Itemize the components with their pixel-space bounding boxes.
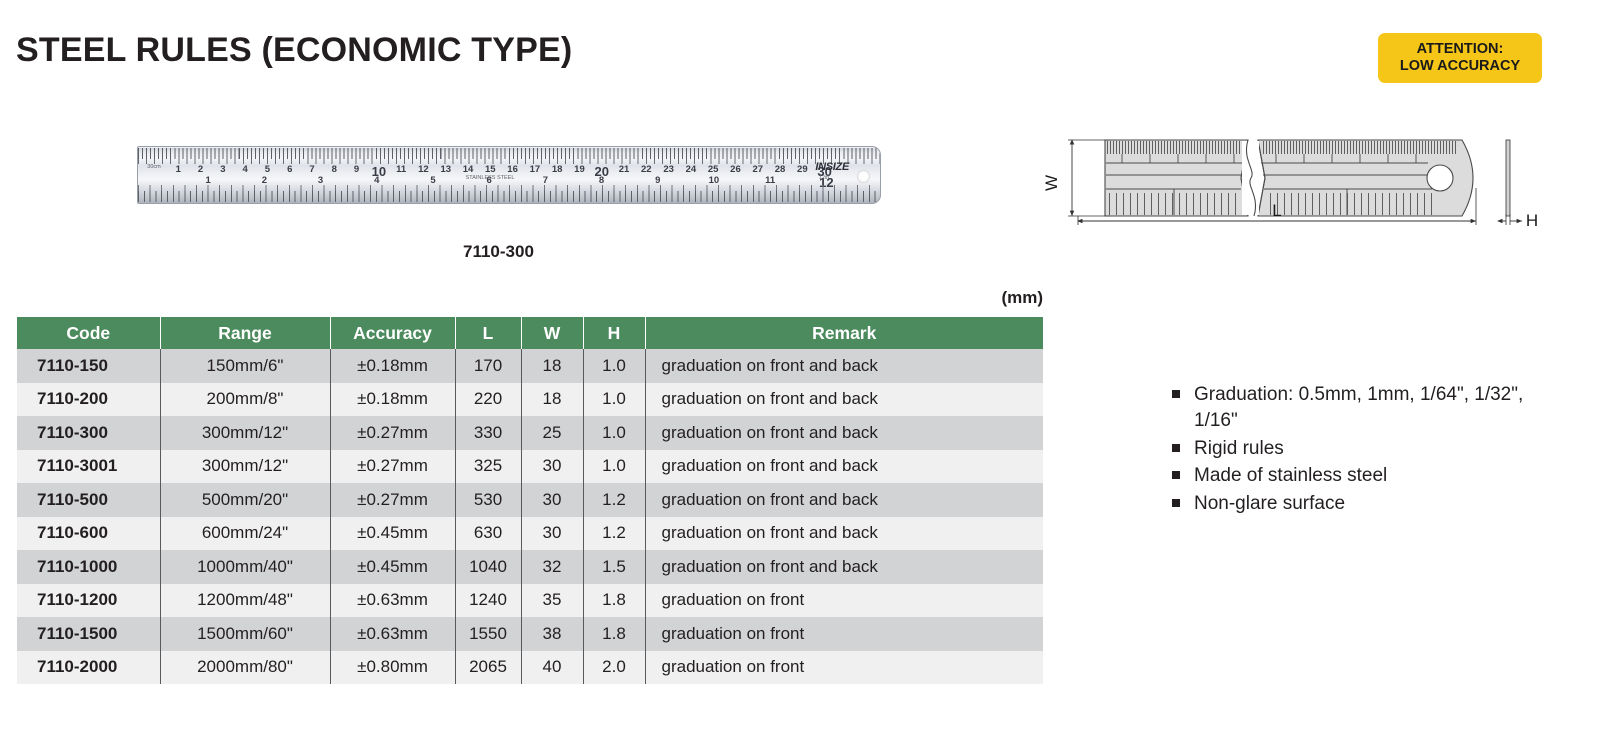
cell-code: 7110-200	[17, 383, 160, 417]
hanging-hole	[857, 170, 870, 183]
height-dimension-label: H	[1526, 211, 1538, 230]
cell-length: 330	[455, 416, 521, 450]
metric-mark-5: 5	[265, 164, 270, 175]
cell-remark: graduation on front	[645, 617, 1043, 651]
dimension-diagram: W L H	[1032, 126, 1552, 236]
cell-height: 1.0	[583, 349, 645, 383]
metric-fine-ticks	[138, 148, 880, 159]
feature-item-text: Non-glare surface	[1194, 493, 1345, 514]
metric-mark-9: 9	[354, 164, 359, 175]
dimension-diagram-svg: W L H	[1032, 126, 1552, 236]
cell-height: 1.5	[583, 550, 645, 584]
table-row: 7110-300300mm/12"±0.27mm330251.0graduati…	[17, 416, 1043, 450]
cell-length: 1550	[455, 617, 521, 651]
inch-fine-ticks	[138, 191, 880, 202]
cell-range: 1200mm/48"	[160, 584, 330, 618]
cell-remark: graduation on front and back	[645, 349, 1043, 383]
metric-mark-3: 3	[220, 164, 225, 175]
metric-mark-4: 4	[242, 164, 247, 175]
cell-height: 1.8	[583, 617, 645, 651]
table-row: 7110-15001500mm/60"±0.63mm1550381.8gradu…	[17, 617, 1043, 651]
feature-item: Made of stainless steel	[1172, 463, 1552, 489]
column-header-remark: Remark	[645, 317, 1043, 349]
table-unit-note: (mm)	[0, 288, 1043, 308]
metric-mark-14: 14	[463, 164, 474, 175]
feature-list: Graduation: 0.5mm, 1mm, 1/64", 1/32", 1/…	[1172, 382, 1552, 519]
insize-brand-logo: INSIZE	[815, 161, 849, 173]
cell-length: 1240	[455, 584, 521, 618]
metric-mark-13: 13	[440, 164, 451, 175]
cell-accuracy: ±0.18mm	[330, 349, 455, 383]
feature-item-text: Graduation: 0.5mm, 1mm, 1/64", 1/32", 1/…	[1194, 384, 1523, 431]
cell-remark: graduation on front and back	[645, 383, 1043, 417]
cell-height: 2.0	[583, 651, 645, 685]
column-header-code: Code	[17, 317, 160, 349]
cell-code: 7110-2000	[17, 651, 160, 685]
cell-length: 530	[455, 483, 521, 517]
metric-mark-25: 25	[708, 164, 719, 175]
cell-height: 1.2	[583, 483, 645, 517]
inch-unit-caption: 12in	[819, 175, 829, 181]
metric-mark-12: 12	[418, 164, 429, 175]
cell-height: 1.8	[583, 584, 645, 618]
cell-range: 300mm/12"	[160, 416, 330, 450]
cell-length: 220	[455, 383, 521, 417]
cell-length: 325	[455, 450, 521, 484]
metric-mark-24: 24	[686, 164, 697, 175]
square-bullet-icon	[1172, 471, 1180, 479]
cell-height: 1.2	[583, 517, 645, 551]
table-row: 7110-500500mm/20"±0.27mm530301.2graduati…	[17, 483, 1043, 517]
metric-mark-1: 1	[176, 164, 181, 175]
table-header-row: Code Range Accuracy L W H Remark	[17, 317, 1043, 349]
cell-accuracy: ±0.18mm	[330, 383, 455, 417]
cell-range: 1000mm/40"	[160, 550, 330, 584]
metric-mark-11: 11	[396, 164, 406, 175]
width-dimension-label: W	[1042, 175, 1061, 191]
cell-remark: graduation on front and back	[645, 416, 1043, 450]
cell-width: 38	[521, 617, 583, 651]
cell-length: 170	[455, 349, 521, 383]
cell-width: 18	[521, 349, 583, 383]
attention-badge-line1: ATTENTION:	[1417, 41, 1504, 58]
cell-code: 7110-500	[17, 483, 160, 517]
table-row: 7110-20002000mm/80"±0.80mm2065402.0gradu…	[17, 651, 1043, 685]
metric-mark-7: 7	[309, 164, 314, 175]
metric-mark-22: 22	[641, 164, 652, 175]
cell-code: 7110-150	[17, 349, 160, 383]
metric-mark-2: 2	[198, 164, 203, 175]
cell-code: 7110-1000	[17, 550, 160, 584]
metric-mark-17: 17	[530, 164, 541, 175]
column-header-range: Range	[160, 317, 330, 349]
metric-mark-26: 26	[730, 164, 741, 175]
cell-range: 300mm/12"	[160, 450, 330, 484]
cell-remark: graduation on front	[645, 584, 1043, 618]
length-dimension-label: L	[1272, 201, 1281, 220]
column-header-w: W	[521, 317, 583, 349]
cell-remark: graduation on front and back	[645, 517, 1043, 551]
cell-code: 7110-1200	[17, 584, 160, 618]
metric-mark-15: 15	[485, 164, 496, 175]
cell-accuracy: ±0.63mm	[330, 584, 455, 618]
metric-mark-19: 19	[574, 164, 585, 175]
cell-height: 1.0	[583, 383, 645, 417]
cell-accuracy: ±0.80mm	[330, 651, 455, 685]
square-bullet-icon	[1172, 444, 1180, 452]
metric-mark-16: 16	[507, 164, 518, 175]
cell-width: 25	[521, 416, 583, 450]
feature-item: Graduation: 0.5mm, 1mm, 1/64", 1/32", 1/…	[1172, 382, 1552, 434]
cell-code: 7110-3001	[17, 450, 160, 484]
cell-accuracy: ±0.63mm	[330, 617, 455, 651]
square-bullet-icon	[1172, 499, 1180, 507]
metric-mark-8: 8	[332, 164, 337, 175]
cell-width: 30	[521, 483, 583, 517]
cell-width: 35	[521, 584, 583, 618]
attention-badge-line2: LOW ACCURACY	[1400, 58, 1520, 75]
cell-height: 1.0	[583, 450, 645, 484]
page-title: STEEL RULES (ECONOMIC TYPE)	[16, 31, 572, 70]
cell-accuracy: ±0.27mm	[330, 416, 455, 450]
cell-length: 630	[455, 517, 521, 551]
cell-accuracy: ±0.45mm	[330, 550, 455, 584]
square-bullet-icon	[1172, 390, 1180, 398]
cell-remark: graduation on front and back	[645, 483, 1043, 517]
cell-range: 2000mm/80"	[160, 651, 330, 685]
metric-mark-23: 23	[663, 164, 674, 175]
column-header-h: H	[583, 317, 645, 349]
metric-mark-6: 6	[287, 164, 292, 175]
feature-item: Non-glare surface	[1172, 491, 1552, 517]
product-code-caption: 7110-300	[463, 242, 534, 262]
table-row: 7110-150150mm/6"±0.18mm170181.0graduatio…	[17, 349, 1043, 383]
cell-range: 200mm/8"	[160, 383, 330, 417]
cell-width: 32	[521, 550, 583, 584]
cell-code: 7110-600	[17, 517, 160, 551]
feature-item-text: Rigid rules	[1194, 438, 1284, 459]
feature-item: Rigid rules	[1172, 436, 1552, 462]
cell-length: 2065	[455, 651, 521, 685]
steel-rule-image: 1234567891011121314151617181920212223242…	[137, 146, 881, 204]
cell-accuracy: ±0.27mm	[330, 483, 455, 517]
column-header-accuracy: Accuracy	[330, 317, 455, 349]
table-row: 7110-10001000mm/40"±0.45mm1040321.5gradu…	[17, 550, 1043, 584]
cell-remark: graduation on front and back	[645, 450, 1043, 484]
specification-table: Code Range Accuracy L W H Remark 7110-15…	[17, 317, 1043, 684]
cell-range: 600mm/24"	[160, 517, 330, 551]
cell-width: 30	[521, 517, 583, 551]
attention-badge: ATTENTION: LOW ACCURACY	[1378, 33, 1542, 83]
cell-code: 7110-300	[17, 416, 160, 450]
table-row: 7110-200200mm/8"±0.18mm220181.0graduatio…	[17, 383, 1043, 417]
table-row: 7110-3001300mm/12"±0.27mm325301.0graduat…	[17, 450, 1043, 484]
metric-mark-28: 28	[775, 164, 786, 175]
cell-accuracy: ±0.27mm	[330, 450, 455, 484]
metric-mark-18: 18	[552, 164, 563, 175]
metric-mark-27: 27	[752, 164, 763, 175]
metric-unit-caption: 30cm	[147, 164, 160, 170]
metric-mark-21: 21	[619, 164, 630, 175]
cell-length: 1040	[455, 550, 521, 584]
cell-range: 150mm/6"	[160, 349, 330, 383]
product-photo: 1234567891011121314151617181920212223242…	[137, 146, 879, 202]
cell-range: 500mm/20"	[160, 483, 330, 517]
material-caption: STAINLESS STEEL	[466, 175, 515, 181]
cell-width: 40	[521, 651, 583, 685]
table-row: 7110-600600mm/24"±0.45mm630301.2graduati…	[17, 517, 1043, 551]
catalog-page: STEEL RULES (ECONOMIC TYPE) ATTENTION: L…	[0, 0, 1600, 736]
cell-range: 1500mm/60"	[160, 617, 330, 651]
cell-accuracy: ±0.45mm	[330, 517, 455, 551]
cell-width: 18	[521, 383, 583, 417]
metric-mark-29: 29	[797, 164, 808, 175]
feature-item-text: Made of stainless steel	[1194, 465, 1387, 486]
cell-remark: graduation on front	[645, 651, 1043, 685]
cell-code: 7110-1500	[17, 617, 160, 651]
column-header-l: L	[455, 317, 521, 349]
cell-remark: graduation on front and back	[645, 550, 1043, 584]
cell-height: 1.0	[583, 416, 645, 450]
table-row: 7110-12001200mm/48"±0.63mm1240351.8gradu…	[17, 584, 1043, 618]
cell-width: 30	[521, 450, 583, 484]
